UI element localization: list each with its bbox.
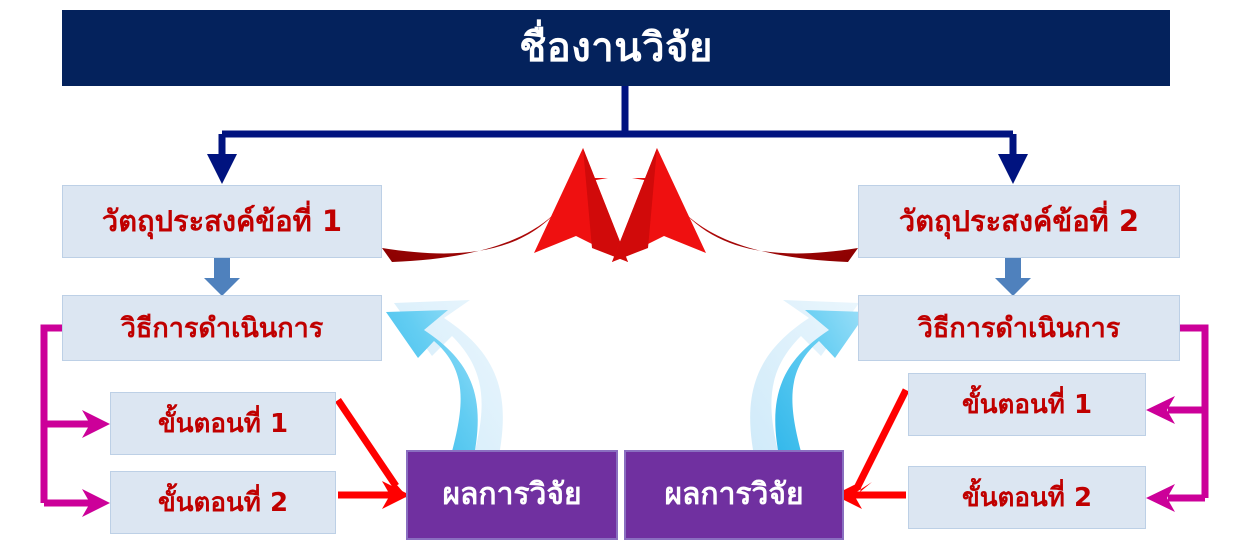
result-label-right: ผลการวิจัย xyxy=(664,480,803,510)
red-arrow-step2-to-result-right xyxy=(834,481,906,509)
step-box-right-2[interactable]: ขั้นตอนที่ 2 xyxy=(908,466,1146,529)
steel-arrow-left xyxy=(204,258,240,296)
objective-box-right[interactable]: วัตถุประสงค์ข้อที่ 2 xyxy=(858,185,1180,258)
step-label-right-2: ขั้นตอนที่ 2 xyxy=(962,485,1092,511)
method-box-left[interactable]: วิธีการดำเนินการ xyxy=(62,295,382,361)
objective-box-left[interactable]: วัตถุประสงค์ข้อที่ 1 xyxy=(62,185,382,258)
red-arrow-step2-to-result-left xyxy=(338,481,410,509)
result-label-left: ผลการวิจัย xyxy=(442,480,581,510)
blue-feedback-arrow-right xyxy=(750,300,867,470)
red-swoop-arrow-right xyxy=(612,148,858,262)
step-box-left-2[interactable]: ขั้นตอนที่ 2 xyxy=(110,471,336,534)
step-label-right-1: ขั้นตอนที่ 1 xyxy=(962,392,1092,418)
method-label-left: วิธีการดำเนินการ xyxy=(121,315,324,342)
step-box-right-1[interactable]: ขั้นตอนที่ 1 xyxy=(908,373,1146,436)
steel-arrow-right xyxy=(995,258,1031,296)
research-title-text: ชื่องานวิจัย xyxy=(519,28,713,68)
red-arrow-step1-to-result-right xyxy=(844,390,906,500)
objective-label-left: วัตถุประสงค์ข้อที่ 1 xyxy=(102,207,342,236)
step-box-left-1[interactable]: ขั้นตอนที่ 1 xyxy=(110,392,336,455)
result-box-right[interactable]: ผลการวิจัย xyxy=(624,450,844,540)
navy-tree-connector xyxy=(207,86,1028,184)
method-box-right[interactable]: วิธีการดำเนินการ xyxy=(858,295,1180,361)
step-label-left-2: ขั้นตอนที่ 2 xyxy=(158,490,288,516)
research-title-box: ชื่องานวิจัย xyxy=(62,10,1170,86)
method-label-right: วิธีการดำเนินการ xyxy=(918,315,1121,342)
red-swoop-arrow-left xyxy=(382,148,628,262)
objective-label-right: วัตถุประสงค์ข้อที่ 2 xyxy=(899,207,1139,236)
research-framework-diagram: ชื่องานวิจัย xyxy=(0,0,1253,554)
result-box-left[interactable]: ผลการวิจัย xyxy=(406,450,618,540)
step-label-left-1: ขั้นตอนที่ 1 xyxy=(158,411,288,437)
blue-feedback-arrow-left xyxy=(386,300,503,470)
red-arrow-step1-to-result-left xyxy=(338,400,410,500)
